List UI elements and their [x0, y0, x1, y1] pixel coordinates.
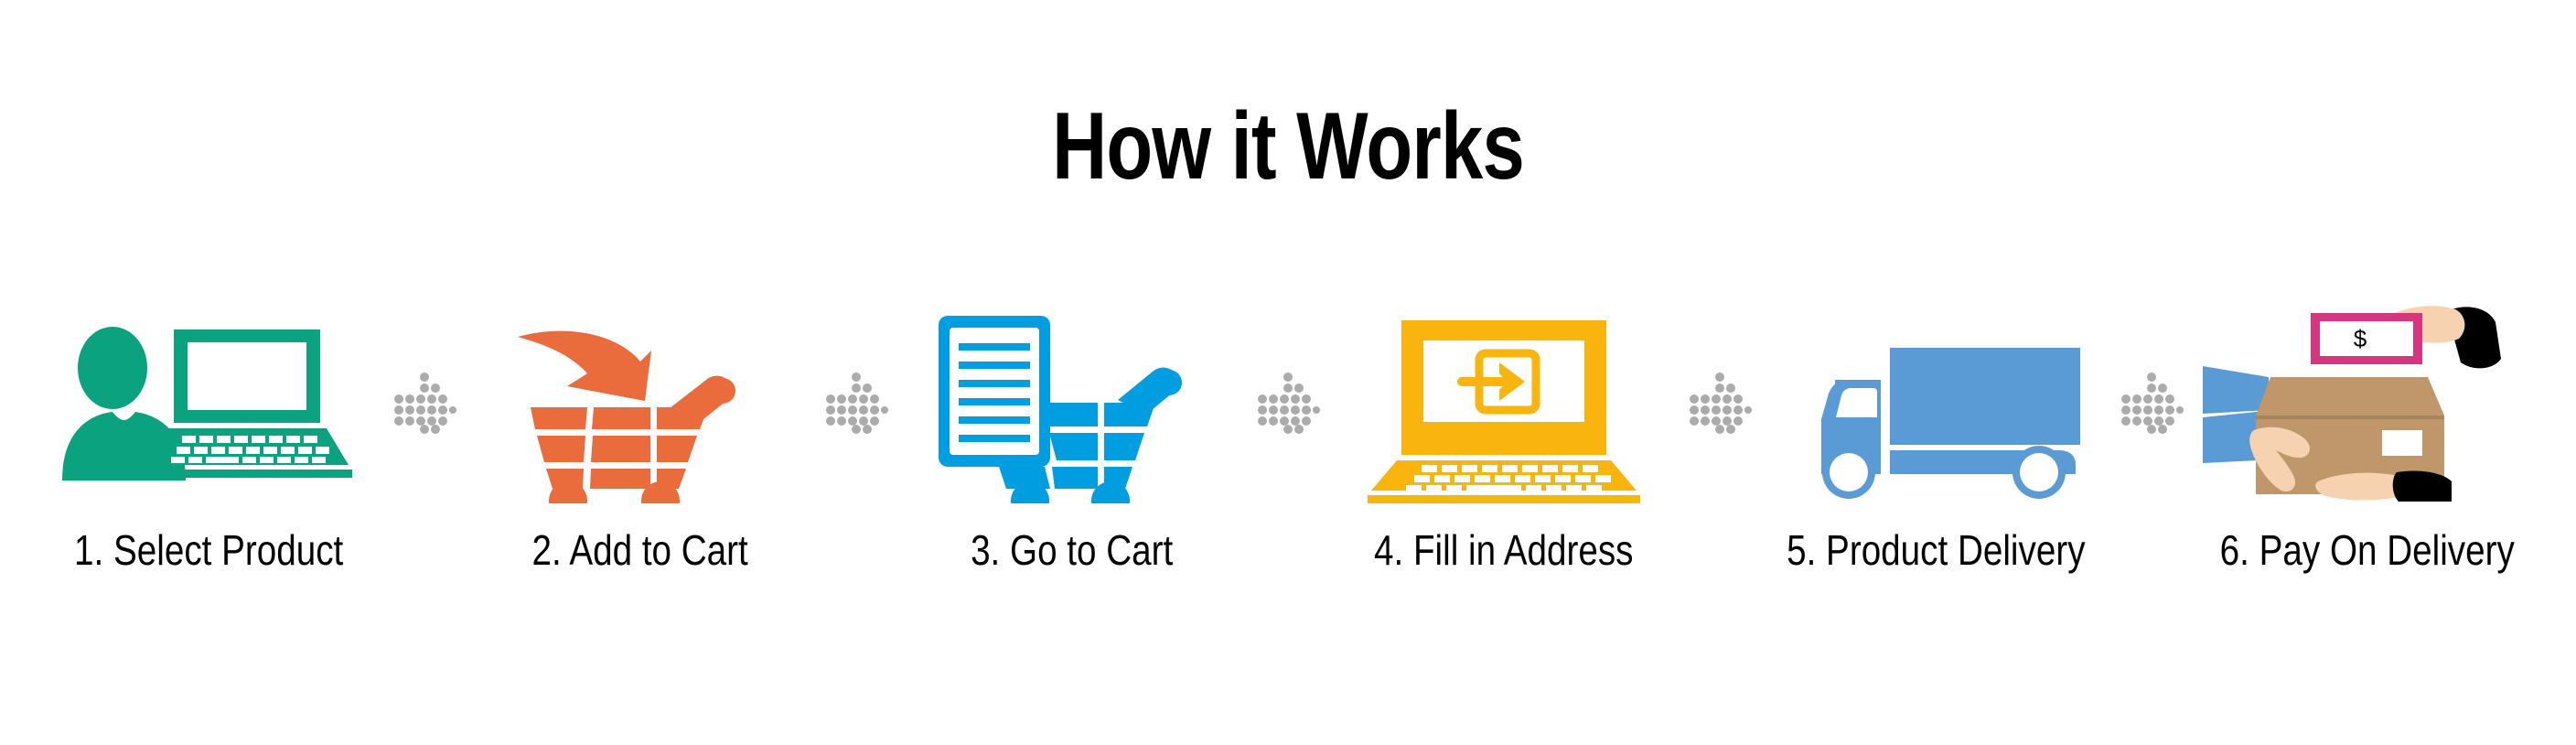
step-5-label: 5. Product Delivery: [1787, 527, 2085, 573]
banknote-dollar-symbol: $: [2354, 325, 2367, 352]
separator-2: [820, 302, 893, 503]
laptop-login-icon: [1362, 320, 1646, 503]
dotted-arrow-right-icon: [392, 371, 456, 435]
separator-4: [1683, 302, 1756, 503]
shipping-label: [2382, 430, 2422, 456]
separator-3: [1251, 302, 1325, 503]
dotted-arrow-right-icon: [1688, 371, 1752, 435]
dotted-arrow-right-icon: [2120, 371, 2184, 435]
step-3-artwork: [893, 302, 1251, 503]
step-4-label: 4. Fill in Address: [1374, 527, 1633, 573]
step-3-go-to-cart[interactable]: 3. Go to Cart: [893, 302, 1251, 573]
step-4-fill-in-address[interactable]: 4. Fill in Address: [1325, 302, 1683, 573]
step-1-label: 1. Select Product: [74, 527, 343, 573]
dotted-arrow-right-icon: [1256, 371, 1320, 435]
step-6-artwork: $: [2188, 302, 2547, 503]
step-6-pay-on-delivery[interactable]: $: [2188, 302, 2547, 573]
cart-with-arrow-icon: [503, 320, 778, 503]
separator-5: [2115, 302, 2188, 503]
step-3-label: 3. Go to Cart: [971, 527, 1173, 573]
courier-sleeve-upper: [2203, 366, 2269, 414]
step-4-artwork: [1325, 302, 1683, 503]
parcel-box-lid: [2256, 377, 2444, 416]
step-1-select-product[interactable]: 1. Select Product: [29, 302, 388, 573]
steps-row: 1. Select Product: [0, 302, 2576, 632]
person-with-laptop-icon: [58, 320, 360, 503]
dotted-arrow-right-icon: [824, 371, 888, 435]
how-it-works-infographic: How it Works: [0, 0, 2576, 745]
page-title: How it Works: [258, 99, 2319, 194]
step-6-label: 6. Pay On Delivery: [2220, 527, 2515, 573]
hands-box-cash-icon: $: [2203, 302, 2532, 503]
document-with-cart-icon: [935, 316, 1209, 503]
delivery-truck-icon: [1785, 339, 2087, 503]
step-5-product-delivery[interactable]: 5. Product Delivery: [1756, 302, 2115, 573]
step-5-artwork: [1756, 302, 2115, 503]
step-1-artwork: [29, 302, 388, 503]
step-2-add-to-cart[interactable]: 2. Add to Cart: [461, 302, 820, 573]
step-2-artwork: [461, 302, 820, 503]
step-2-label: 2. Add to Cart: [532, 527, 748, 573]
separator-1: [388, 302, 461, 503]
